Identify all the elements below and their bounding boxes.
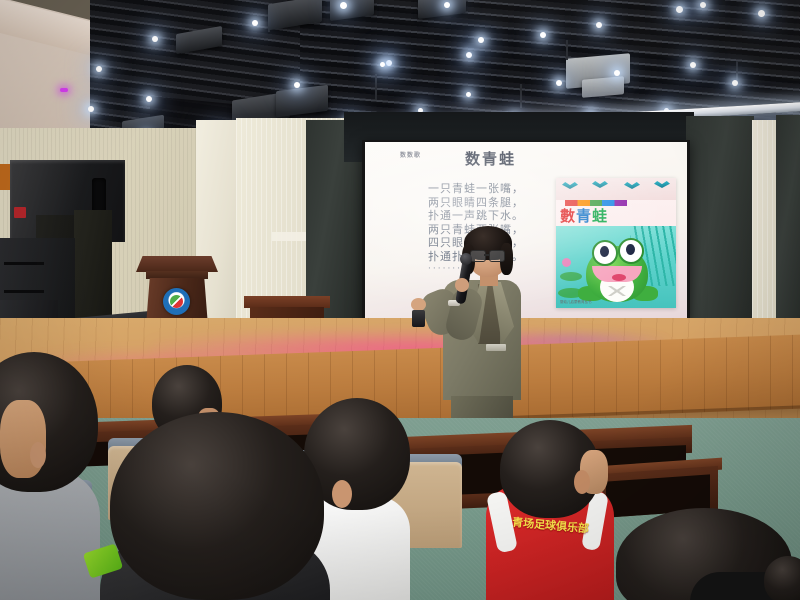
podium-neck: [146, 271, 208, 279]
rack-slot: [4, 290, 44, 293]
ceiling-downlight: [540, 32, 546, 38]
book-cover-footer: 婴幼儿启蒙教育丛书: [560, 300, 592, 305]
speaker-port: [92, 178, 106, 214]
glasses-bridge-icon: [484, 254, 489, 256]
lily-pad-icon: [560, 272, 582, 281]
student-ear: [30, 442, 46, 468]
light-hanger-rod: [566, 40, 568, 60]
student-ear: [574, 470, 590, 494]
magenta-accent-light: [60, 88, 68, 92]
book-cover-title: 數青蛙: [560, 205, 608, 226]
frog-pupil: [626, 244, 635, 255]
ceiling-downlight: [596, 22, 602, 28]
wall-dark-panel: [776, 115, 800, 340]
student-ear: [332, 480, 352, 508]
light-hanger-rod: [375, 74, 377, 100]
ceiling-downlight: [478, 37, 484, 43]
ceiling-downlight: [700, 2, 706, 8]
book-title-char: 蛙: [592, 207, 608, 225]
book-title-char: 數: [560, 207, 576, 225]
presentation-clicker: [412, 310, 425, 327]
wall-sign: [272, 232, 306, 241]
ceiling-downlight: [386, 60, 392, 66]
ceiling-downlight: [676, 6, 683, 13]
ceiling-downlight: [380, 62, 385, 67]
wall-panel-right: [752, 120, 778, 335]
presenter-right-hand: [455, 278, 469, 292]
poem-line: 一只青蛙一张嘴，: [428, 182, 558, 196]
ceiling-downlight: [88, 106, 94, 112]
frog-tongue: [612, 274, 626, 281]
lotus-flower-icon: [562, 258, 571, 267]
stage-light-fixture: [582, 76, 624, 98]
ceiling-downlight: [96, 66, 102, 72]
ceiling-downlight: [252, 20, 258, 26]
student-head: [110, 412, 324, 600]
light-hanger-rod: [520, 84, 522, 108]
ceiling-downlight: [690, 62, 696, 68]
slide-title: 数青蛙: [465, 148, 516, 169]
frog-pupil: [600, 246, 609, 257]
wall-dark-panel: [686, 116, 754, 338]
book-title-char: 青: [576, 207, 592, 225]
ceiling-downlight: [294, 82, 300, 88]
slide-corner-label: 数数歌: [400, 150, 421, 159]
glasses-lens-icon: [489, 250, 505, 262]
ceiling-downlight: [758, 10, 765, 17]
ceiling-downlight: [340, 2, 347, 9]
school-emblem-core-icon: [170, 295, 183, 308]
podium-top: [136, 256, 218, 272]
auditorium-photo: 数数歌 数青蛙 一只青蛙一张嘴， 两只眼睛四条腿， 扑通一声跳下水。 两只青蛙两…: [0, 0, 800, 600]
ceiling-downlight: [466, 52, 472, 58]
poem-line: 两只眼睛四条腿，: [428, 196, 558, 210]
ceiling-downlight: [466, 92, 471, 97]
speaker-brand-badge: [14, 207, 26, 218]
ceiling-downlight: [444, 2, 450, 8]
presenter-badge: [486, 344, 506, 351]
poem-line: 扑通一声跳下水。: [428, 209, 558, 223]
rack-slot: [4, 262, 44, 265]
ceiling-downlight: [732, 80, 738, 86]
ceiling-downlight: [146, 96, 152, 102]
ceiling-downlight: [556, 80, 562, 86]
ceiling-downlight: [614, 70, 620, 76]
book-cover-top-band: [556, 178, 676, 200]
glasses-lens-icon: [470, 250, 486, 262]
ceiling-downlight: [152, 36, 158, 42]
